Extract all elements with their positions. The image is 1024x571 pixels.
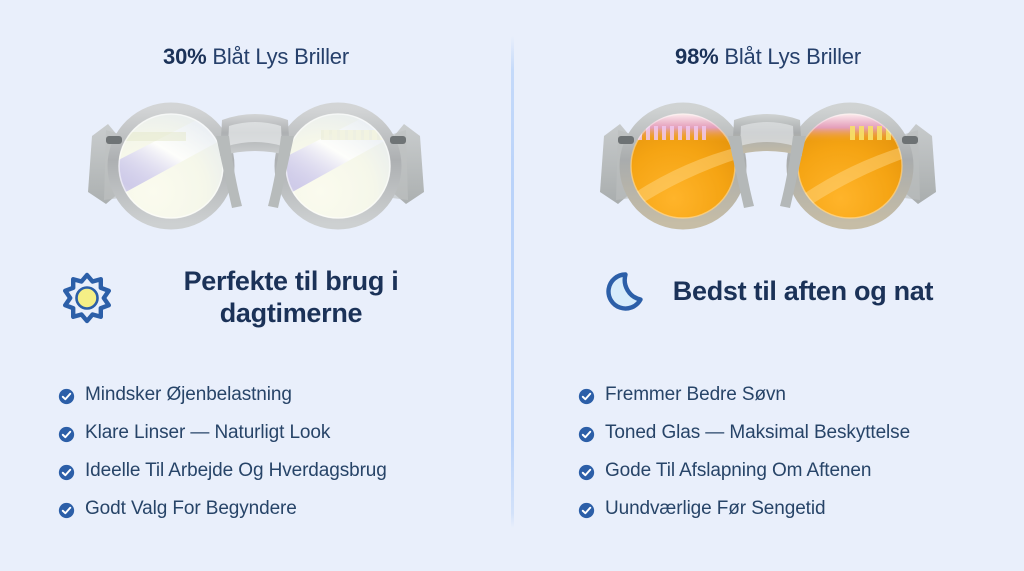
list-item: Godt Valg For Begyndere (58, 490, 498, 528)
header-label: Blåt Lys Briller (724, 44, 861, 69)
list-item: Klare Linser — Naturligt Look (58, 414, 498, 452)
moon-icon (603, 266, 655, 318)
subheading-daytime: Perfekte til brug i dagtimerne (0, 266, 512, 330)
check-circle-icon (578, 502, 595, 519)
list-item-label: Toned Glas — Maksimal Beskyttelse (605, 422, 910, 444)
header-percent: 98% (675, 44, 718, 69)
column-nighttime: 98% Blåt Lys Briller (512, 0, 1024, 571)
list-item-label: Ideelle Til Arbejde Og Hverdagsbrug (85, 460, 387, 482)
list-item-label: Godt Valg For Begyndere (85, 498, 297, 520)
header-label: Blåt Lys Briller (212, 44, 349, 69)
list-item-label: Klare Linser — Naturligt Look (85, 422, 330, 444)
list-item: Uundværlige Før Sengetid (578, 490, 1018, 528)
header-percent: 30% (163, 44, 206, 69)
list-item: Ideelle Til Arbejde Og Hverdagsbrug (58, 452, 498, 490)
sun-icon (61, 272, 113, 324)
column-header-daytime: 30% Blåt Lys Briller (0, 44, 512, 70)
list-item: Mindsker Øjenbelastning (58, 376, 498, 414)
list-item: Gode Til Afslapning Om Aftenen (578, 452, 1018, 490)
subheading-text: Perfekte til brug i dagtimerne (131, 266, 451, 330)
check-circle-icon (578, 464, 595, 481)
subheading-nighttime: Bedst til aften og nat (512, 266, 1024, 318)
check-circle-icon (58, 426, 75, 443)
feature-list-nighttime: Fremmer Bedre Søvn Toned Glas — Maksimal… (578, 376, 1018, 528)
check-circle-icon (578, 426, 595, 443)
feature-list-daytime: Mindsker Øjenbelastning Klare Linser — N… (58, 376, 498, 528)
list-item: Fremmer Bedre Søvn (578, 376, 1018, 414)
list-item-label: Fremmer Bedre Søvn (605, 384, 786, 406)
column-daytime: 30% Blåt Lys Briller (0, 0, 512, 571)
list-item-label: Mindsker Øjenbelastning (85, 384, 292, 406)
check-circle-icon (578, 388, 595, 405)
subheading-text: Bedst til aften og nat (673, 276, 933, 308)
list-item-label: Gode Til Afslapning Om Aftenen (605, 460, 871, 482)
product-image-amber-glasses (578, 96, 958, 236)
column-header-nighttime: 98% Blåt Lys Briller (512, 44, 1024, 70)
list-item: Toned Glas — Maksimal Beskyttelse (578, 414, 1018, 452)
check-circle-icon (58, 388, 75, 405)
list-item-label: Uundværlige Før Sengetid (605, 498, 825, 520)
check-circle-icon (58, 464, 75, 481)
check-circle-icon (58, 502, 75, 519)
comparison-panel: 30% Blåt Lys Briller (0, 0, 1024, 571)
product-image-clear-glasses (66, 96, 446, 236)
